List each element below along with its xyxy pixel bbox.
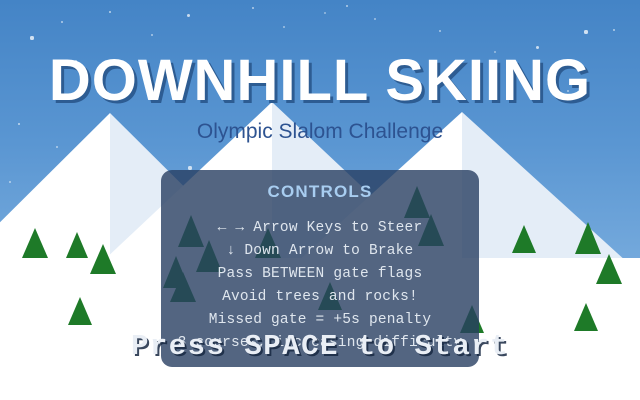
control-line-steer: ← → Arrow Keys to Steer [161,216,479,239]
control-line-gates: Pass BETWEEN gate flags [161,262,479,285]
control-line-brake: ↓ Down Arrow to Brake [161,239,479,262]
mountain-face-lit [0,113,110,262]
controls-heading: CONTROLS [161,182,479,202]
control-line-penalty: Missed gate = +5s penalty [161,308,479,331]
game-screen: DOWNHILL SKIING Olympic Slalom Challenge… [0,0,640,400]
control-line-avoid: Avoid trees and rocks! [161,285,479,308]
press-space-prompt[interactable]: Press SPACE to Start [0,330,640,363]
